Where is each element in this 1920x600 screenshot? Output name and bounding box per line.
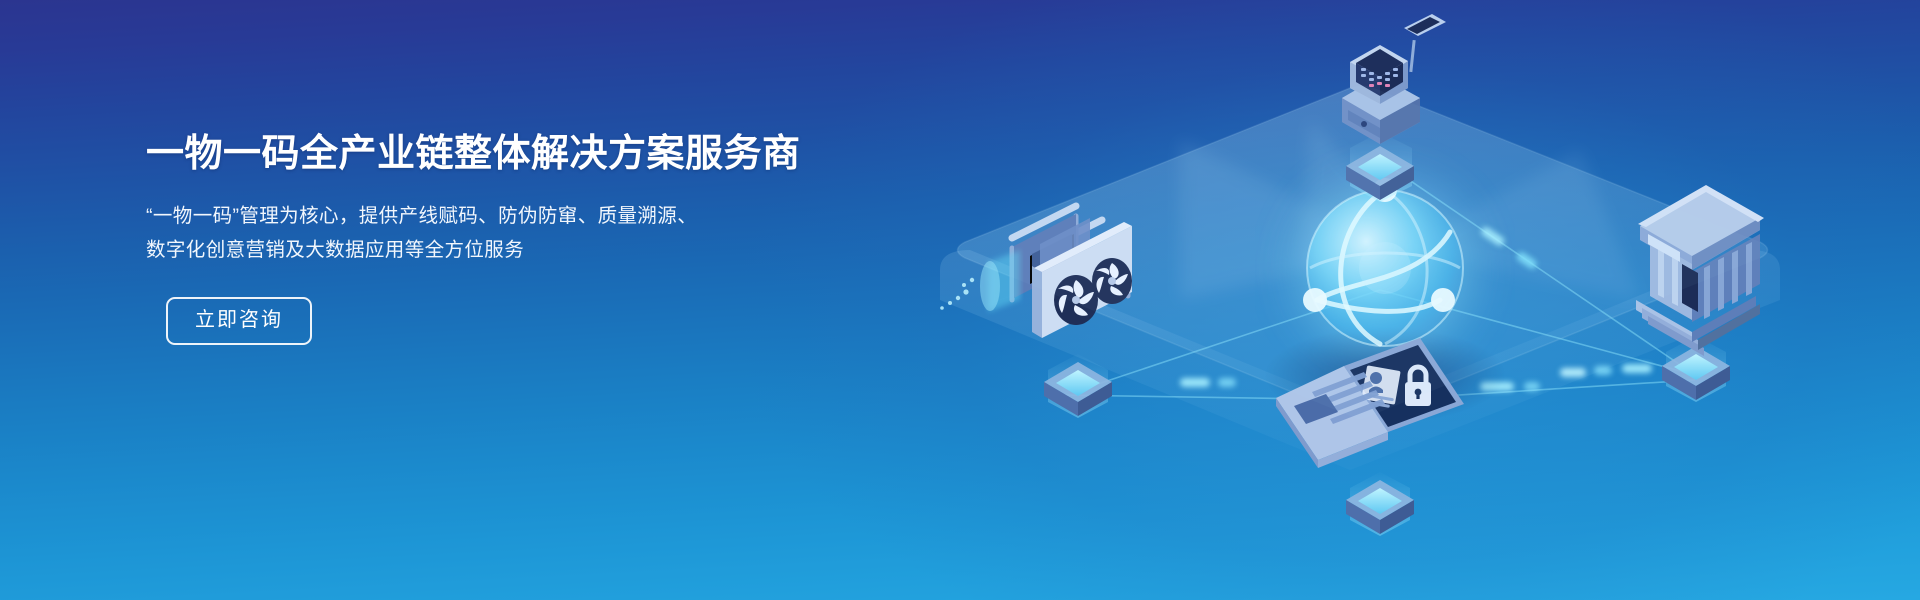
hero-banner: 一物一码全产业链整体解决方案服务商 “一物一码”管理为核心，提供产线赋码、防伪防… — [0, 0, 1920, 600]
hero-subtitle: “一物一码”管理为核心，提供产线赋码、防伪防窜、质量溯源、 数字化创意营销及大数… — [146, 199, 906, 267]
page-title: 一物一码全产业链整体解决方案服务商 — [146, 134, 906, 176]
consult-now-button[interactable]: 立即咨询 — [166, 297, 312, 345]
hero-copy: 一物一码全产业链整体解决方案服务商 “一物一码”管理为核心，提供产线赋码、防伪防… — [146, 134, 906, 345]
subtitle-line-2: 数字化创意营销及大数据应用等全方位服务 — [146, 233, 906, 267]
isometric-network-illustration — [880, 0, 1920, 600]
subtitle-line-1: “一物一码”管理为核心，提供产线赋码、防伪防窜、质量溯源、 — [146, 199, 906, 233]
